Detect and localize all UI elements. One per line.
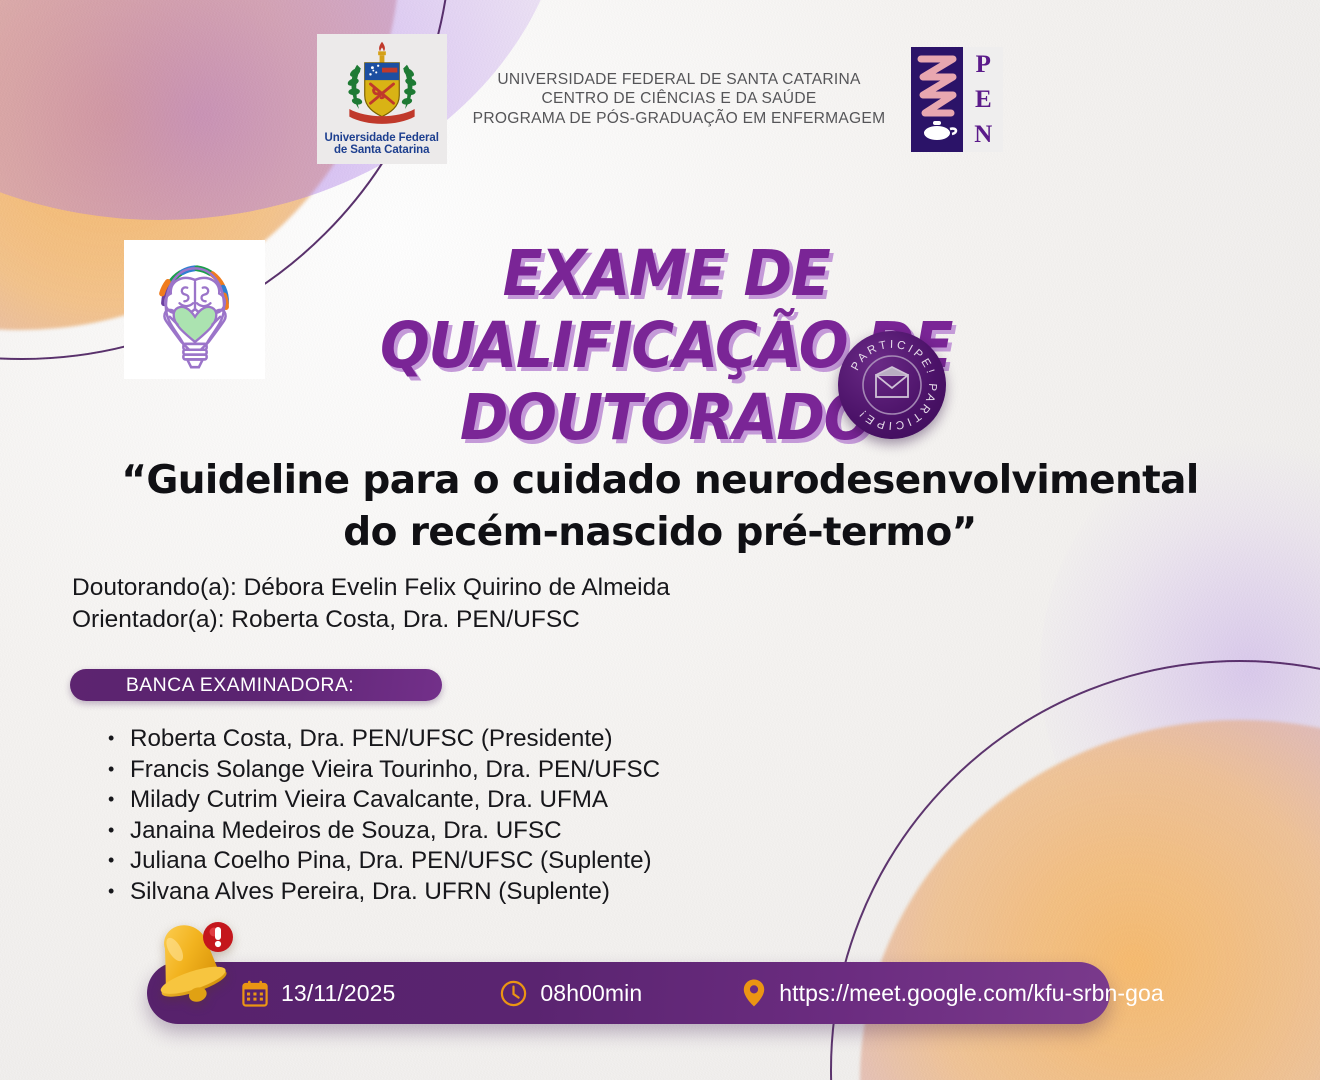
event-date: 13/11/2025 [281,980,395,1007]
event-link[interactable]: https://meet.google.com/kfu-srbn-goa [779,980,1164,1007]
bell-notification-icon [136,915,248,1020]
people-block: Doutorando(a): Débora Evelin Felix Quiri… [72,572,670,636]
snake-and-lamp-icon [911,47,963,152]
ufsc-caption-line-1: Universidade Federal [325,132,439,144]
date-item: 13/11/2025 [242,980,395,1007]
thesis-title: “Guideline para o cuidado neurodesenvolv… [110,455,1210,559]
brain-heart-bulb-icon [136,247,254,373]
ufsc-crest-logo: Universidade Federal de Santa Catarina [317,34,447,164]
envelope-icon [876,367,908,397]
participate-badge: PARTICIPE! PARTICIPE! [838,331,946,439]
pen-program-logo: P E N [911,47,1003,152]
institution-line-2: CENTRO DE CIÊNCIAS E DA SAÚDE [473,89,886,109]
pen-letter-p: P [976,52,991,77]
advisor-line: Orientador(a): Roberta Costa, Dra. PEN/U… [72,604,670,636]
student-line: Doutorando(a): Débora Evelin Felix Quiri… [72,572,670,604]
committee-list: Roberta Costa, Dra. PEN/UFSC (Presidente… [104,724,660,907]
institution-text: UNIVERSIDADE FEDERAL DE SANTA CATARINA C… [473,70,886,129]
header: Universidade Federal de Santa Catarina U… [0,34,1320,164]
ufsc-coat-of-arms-icon [334,36,430,132]
link-item[interactable]: https://meet.google.com/kfu-srbn-goa [742,978,1164,1008]
map-pin-icon [742,978,766,1008]
institution-line-3: PROGRAMA DE PÓS-GRADUAÇÃO EM ENFERMAGEM [473,109,886,129]
ufsc-caption-line-2: de Santa Catarina [325,144,439,156]
institution-line-1: UNIVERSIDADE FEDERAL DE SANTA CATARINA [473,70,886,90]
list-item: Francis Solange Vieira Tourinho, Dra. PE… [104,755,660,786]
committee-heading-pill: BANCA EXAMINADORA: [70,669,442,701]
pen-letter-e: E [975,87,992,112]
list-item: Juliana Coelho Pina, Dra. PEN/UFSC (Supl… [104,846,660,877]
list-item: Janaina Medeiros de Souza, Dra. UFSC [104,816,660,847]
list-item: Milady Cutrim Vieira Cavalcante, Dra. UF… [104,785,660,816]
brain-lightbulb-logo [124,240,265,379]
poster-canvas: Universidade Federal de Santa Catarina U… [0,0,1320,1080]
time-item: 08h00min [500,980,642,1007]
list-item: Roberta Costa, Dra. PEN/UFSC (Presidente… [104,724,660,755]
pen-letter-n: N [974,122,992,147]
pen-logo-snake-panel [911,47,963,152]
event-details-bar: 13/11/2025 08h00min https://meet.google.… [147,962,1110,1024]
list-item: Silvana Alves Pereira, Dra. UFRN (Suplen… [104,877,660,908]
clock-icon [500,980,527,1007]
event-time: 08h00min [540,980,642,1007]
committee-heading-label: BANCA EXAMINADORA: [70,674,442,697]
participate-badge-graphic: PARTICIPE! PARTICIPE! [838,331,946,439]
pen-logo-letters: P E N [963,47,1003,152]
